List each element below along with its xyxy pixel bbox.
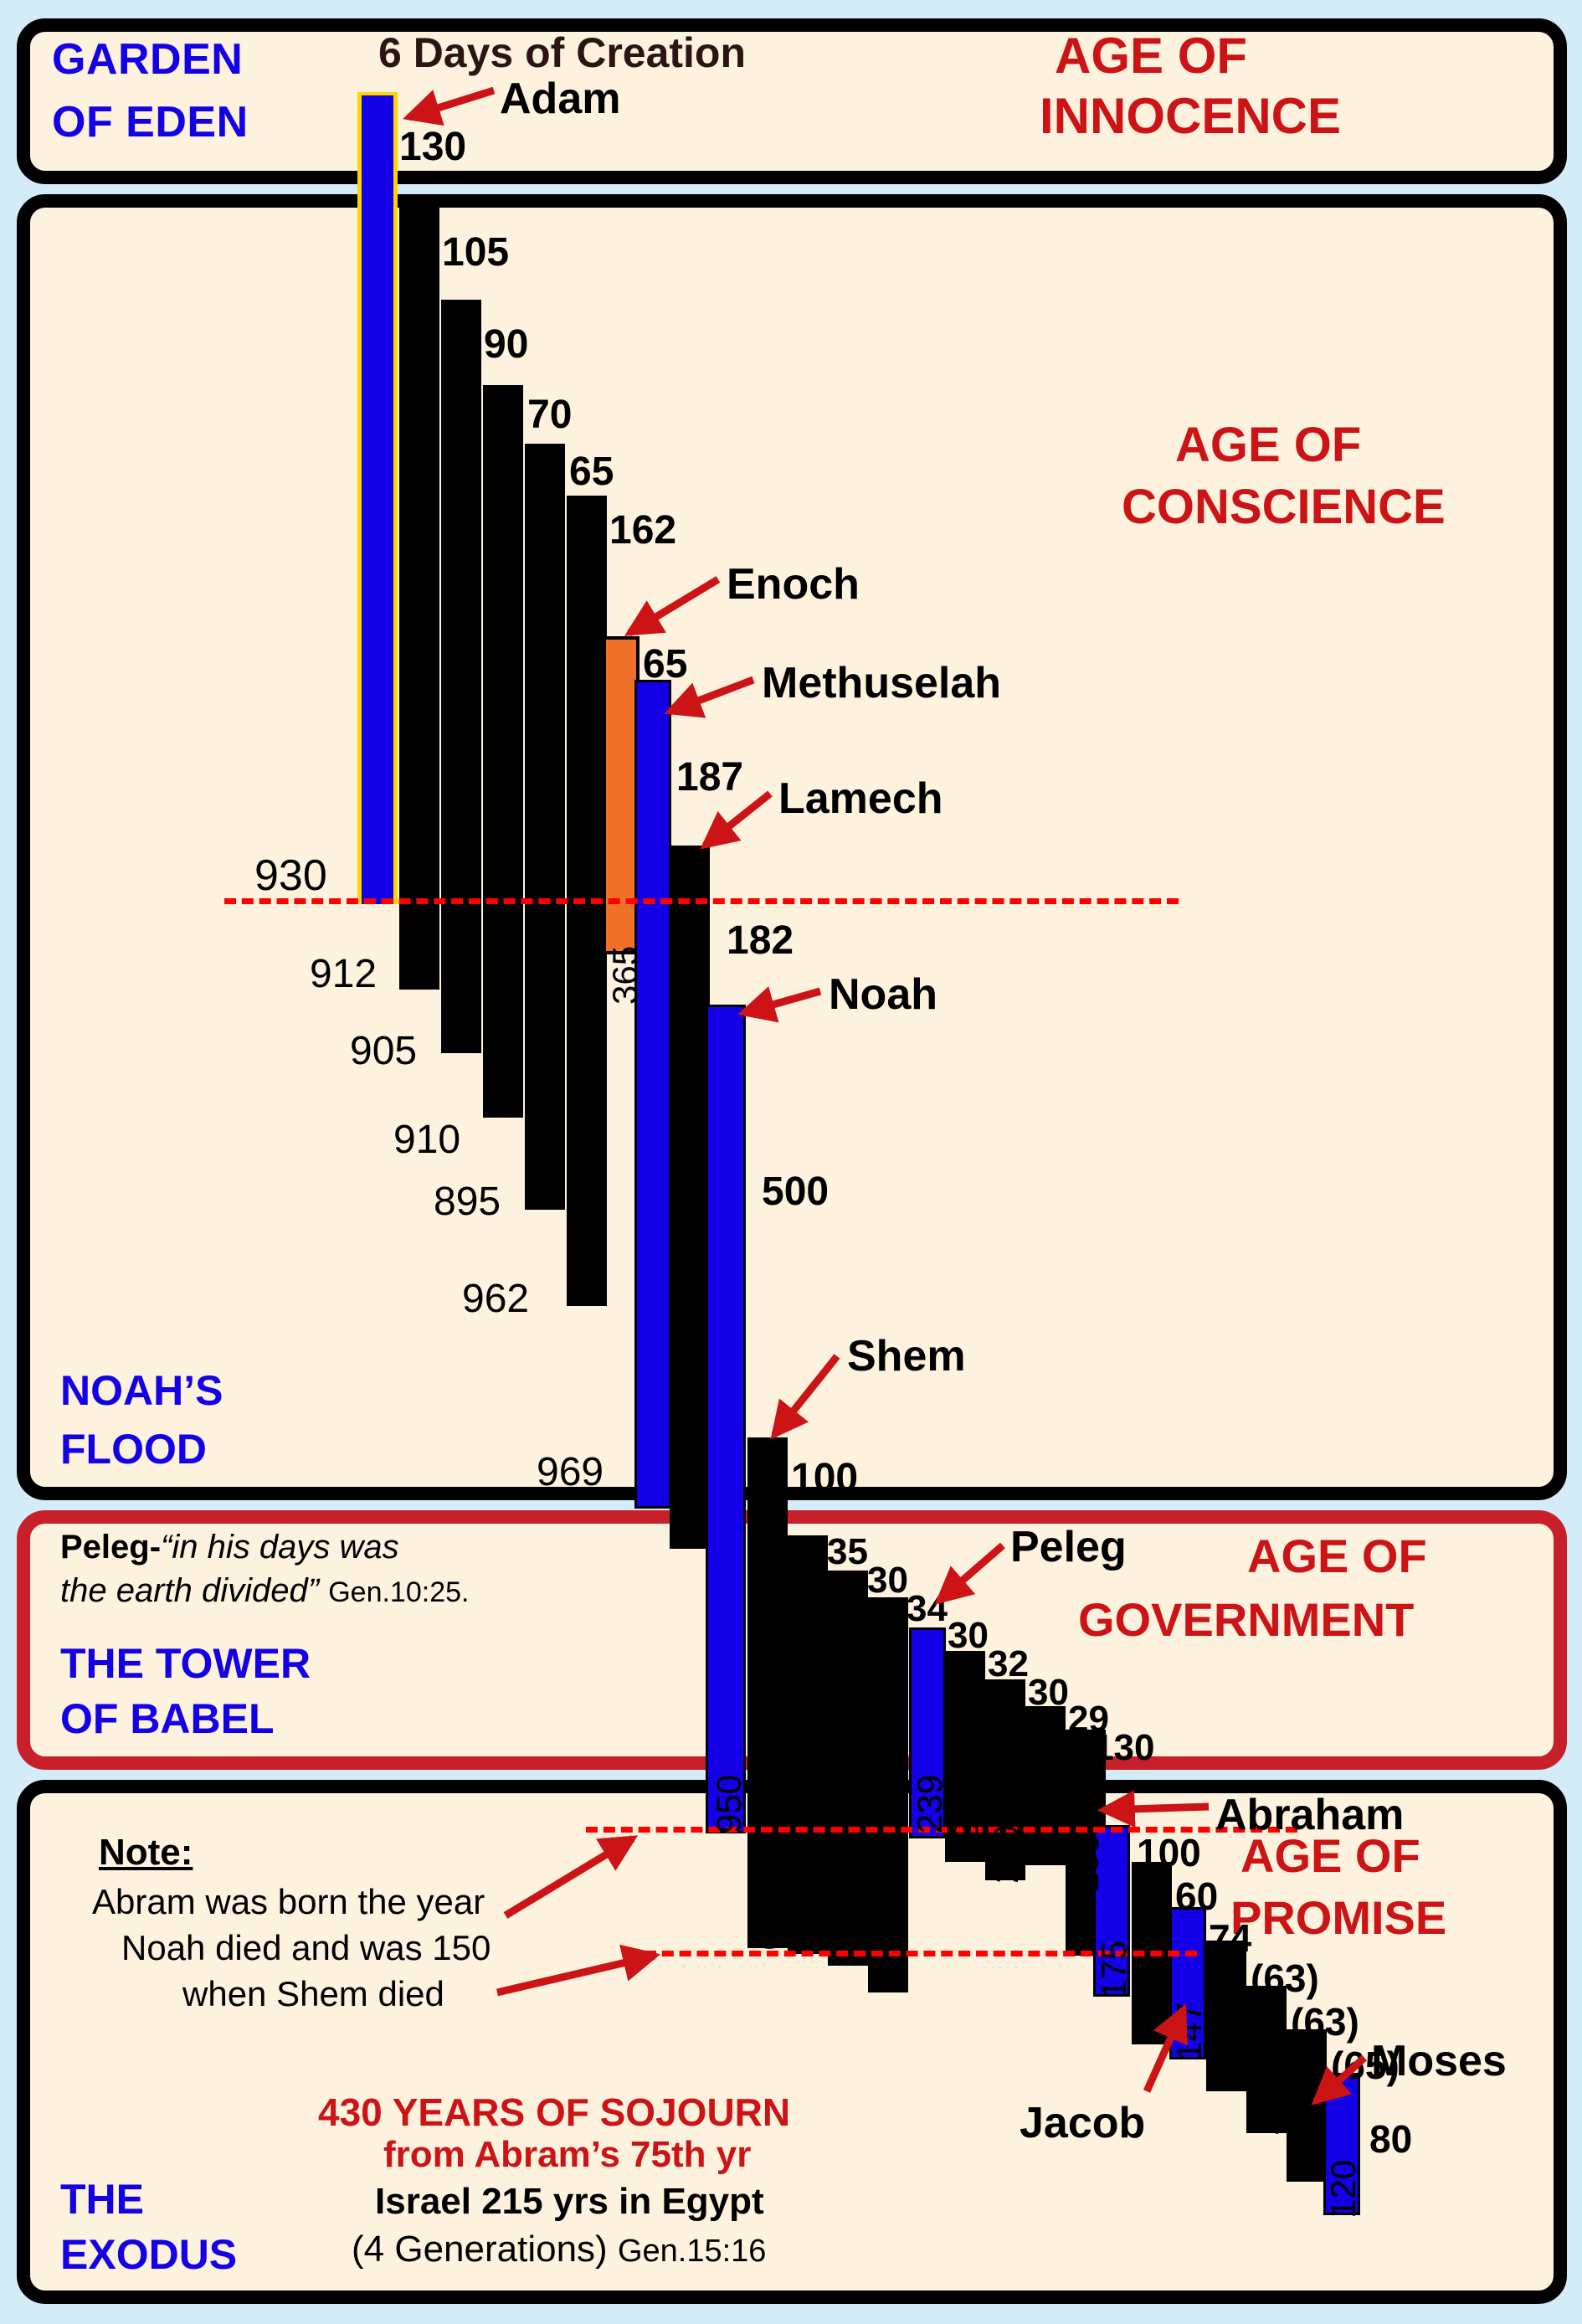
callout-label-noah: Noah bbox=[829, 973, 937, 1016]
peleg-bold-word: Peleg- bbox=[60, 1529, 161, 1566]
note-title: Note: bbox=[99, 1832, 193, 1874]
garden-of-eden-label-line1: GARDEN bbox=[52, 38, 243, 82]
value-label-jared-top: 162 bbox=[609, 511, 676, 551]
value-label-enosh-top: 90 bbox=[484, 325, 528, 365]
lifespan-label-lamech: 777 bbox=[675, 1486, 710, 1545]
value-label-abraham-top: 100 bbox=[1137, 1833, 1201, 1872]
panel-age-of-conscience bbox=[17, 194, 1567, 1500]
the-exodus-line2: EXODUS bbox=[60, 2234, 237, 2276]
callout-label-abraham: Abraham bbox=[1215, 1793, 1404, 1837]
value-label-serug-top: 30 bbox=[1028, 1674, 1069, 1711]
reference-line-930 bbox=[224, 898, 1179, 904]
value-label-noah-top: 500 bbox=[762, 1172, 829, 1212]
exodus-scripture-ref: Gen.15:16 bbox=[618, 2234, 766, 2269]
value-label-moses-top: 80 bbox=[1369, 2120, 1412, 2158]
age-of-government-line1: AGE OF bbox=[1247, 1532, 1427, 1580]
value-label-seth-top: 105 bbox=[442, 233, 509, 273]
lifespan-label-methuselah: 969 bbox=[537, 1452, 604, 1493]
lifespan-label-amram: 137 bbox=[1289, 2123, 1324, 2182]
value-label-jacob-top: 74 bbox=[1209, 1919, 1251, 1957]
lifespan-label-shelah: 433 bbox=[831, 1859, 866, 1917]
lifespan-label-jacob: 147 bbox=[1172, 2003, 1207, 2061]
lifespan-label-noah: 950 bbox=[711, 1775, 747, 1833]
value-label-isaac-top: 60 bbox=[1175, 1877, 1218, 1915]
lifespan-label-mahalalel: 895 bbox=[434, 1182, 501, 1222]
value-label-eber-top: 34 bbox=[907, 1591, 948, 1627]
lifespan-label-enoch: 365 bbox=[608, 946, 643, 1005]
age-of-government-line2: GOVERNMENT bbox=[1078, 1596, 1414, 1643]
noahs-flood-line1: NOAH’S bbox=[60, 1370, 223, 1412]
lifespan-label-abraham: 175 bbox=[1097, 1941, 1132, 1999]
note-line1: Abram was born the year bbox=[92, 1882, 485, 1922]
value-label-arphaxad-top: 35 bbox=[827, 1534, 868, 1571]
value-label-reu-top: 32 bbox=[988, 1646, 1029, 1683]
peleg-quote-text2: the earth divided” bbox=[60, 1572, 319, 1609]
age-of-conscience-line1: AGE OF bbox=[1175, 420, 1361, 470]
value-label-levi-top: (63) bbox=[1251, 1959, 1319, 1998]
value-label-lamech-top: 182 bbox=[727, 921, 794, 961]
value-label-adam-top: 130 bbox=[399, 127, 466, 167]
lifespan-label-adam: 930 bbox=[254, 854, 327, 897]
lifespan-label-eber: 464 bbox=[871, 1885, 907, 1944]
israel-in-egypt-line: Israel 215 yrs in Egypt bbox=[375, 2183, 764, 2221]
lifespan-label-kohath: 133 bbox=[1249, 2078, 1284, 2136]
peleg-quote-line2: the earth divided” Gen.10:25. bbox=[60, 1572, 469, 1610]
note-line2: Noah died and was 150 bbox=[121, 1928, 491, 1968]
callout-label-jacob: Jacob bbox=[1020, 2101, 1145, 2145]
noahs-flood-line2: FLOOD bbox=[60, 1428, 207, 1471]
age-of-innocence-line2: INNOCENCE bbox=[1040, 90, 1341, 141]
callout-label-moses: Moses bbox=[1371, 2039, 1507, 2083]
lifespan-label-reu: 239 bbox=[948, 1802, 984, 1860]
callout-label-methuselah: Methuselah bbox=[762, 661, 1001, 705]
lifespan-label-nahor: 148 bbox=[1029, 1775, 1064, 1833]
value-label-methuselah-top: 187 bbox=[676, 758, 743, 798]
tower-of-babel-line1: THE TOWER bbox=[60, 1643, 311, 1685]
callout-label-adam: Adam bbox=[500, 77, 620, 121]
lifespan-label-seth: 912 bbox=[310, 954, 377, 995]
callout-label-lamech: Lamech bbox=[778, 777, 943, 820]
value-label-shem-top: 100 bbox=[791, 1458, 858, 1499]
lifespan-label-jared: 962 bbox=[462, 1279, 529, 1319]
callout-label-enoch: Enoch bbox=[727, 563, 860, 606]
peleg-quote-line1: Peleg-“in his days was bbox=[60, 1529, 399, 1566]
lifespan-label-moses: 120 bbox=[1326, 2160, 1361, 2219]
generations-line: (4 Generations) Gen.15:16 bbox=[352, 2229, 766, 2270]
sojourn-line1: 430 YEARS OF SOJOURN bbox=[318, 2093, 790, 2132]
value-label-terah-top: 130 bbox=[1093, 1730, 1154, 1766]
value-label-kohath-top: (63) bbox=[1291, 2003, 1359, 2041]
lifespan-label-peleg: 239 bbox=[912, 1775, 948, 1833]
chart-root: GARDEN OF EDEN 6 Days of Creation AGE OF… bbox=[0, 0, 1582, 2324]
value-label-enoch-top: 65 bbox=[643, 645, 687, 685]
generations-text: (4 Generations) bbox=[352, 2229, 608, 2270]
lifespan-label-serug: 230 bbox=[989, 1825, 1024, 1884]
lifespan-label-kenan: 910 bbox=[393, 1120, 460, 1160]
peleg-scripture-ref: Gen.10:25. bbox=[328, 1576, 469, 1608]
lifespan-label-enosh: 905 bbox=[350, 1031, 417, 1072]
value-label-shelah-top: 30 bbox=[867, 1562, 908, 1599]
value-label-kenan-top: 70 bbox=[527, 395, 572, 435]
age-of-innocence-line1: AGE OF bbox=[1055, 30, 1247, 81]
callout-label-shem: Shem bbox=[847, 1334, 966, 1378]
lifespan-label-isaac: 180 bbox=[1134, 1984, 1169, 2043]
six-days-of-creation-title: 6 Days of Creation bbox=[378, 32, 746, 75]
age-of-conscience-line2: CONSCIENCE bbox=[1122, 482, 1446, 532]
lifespan-label-shem: 600 bbox=[752, 1892, 787, 1951]
note-line3: when Shem died bbox=[182, 1974, 444, 2014]
value-label-peleg-top: 30 bbox=[948, 1617, 989, 1654]
lifespan-label-levi: 137 bbox=[1210, 2034, 1245, 2093]
lifespan-label-arphaxad: 438 bbox=[791, 1832, 826, 1890]
sojourn-line2: from Abram’s 75th yr bbox=[383, 2136, 751, 2174]
callout-label-peleg: Peleg bbox=[1010, 1525, 1127, 1569]
peleg-quote-text: “in his days was bbox=[161, 1529, 399, 1566]
age-of-promise-line2: PROMISE bbox=[1230, 1894, 1446, 1941]
garden-of-eden-label-line2: OF EDEN bbox=[52, 100, 249, 145]
tower-of-babel-line2: OF BABEL bbox=[60, 1698, 275, 1740]
lifespan-label-terah: 205 bbox=[1069, 1833, 1104, 1892]
value-label-mahalalel-top: 65 bbox=[569, 452, 614, 492]
the-exodus-line1: THE bbox=[60, 2178, 144, 2221]
